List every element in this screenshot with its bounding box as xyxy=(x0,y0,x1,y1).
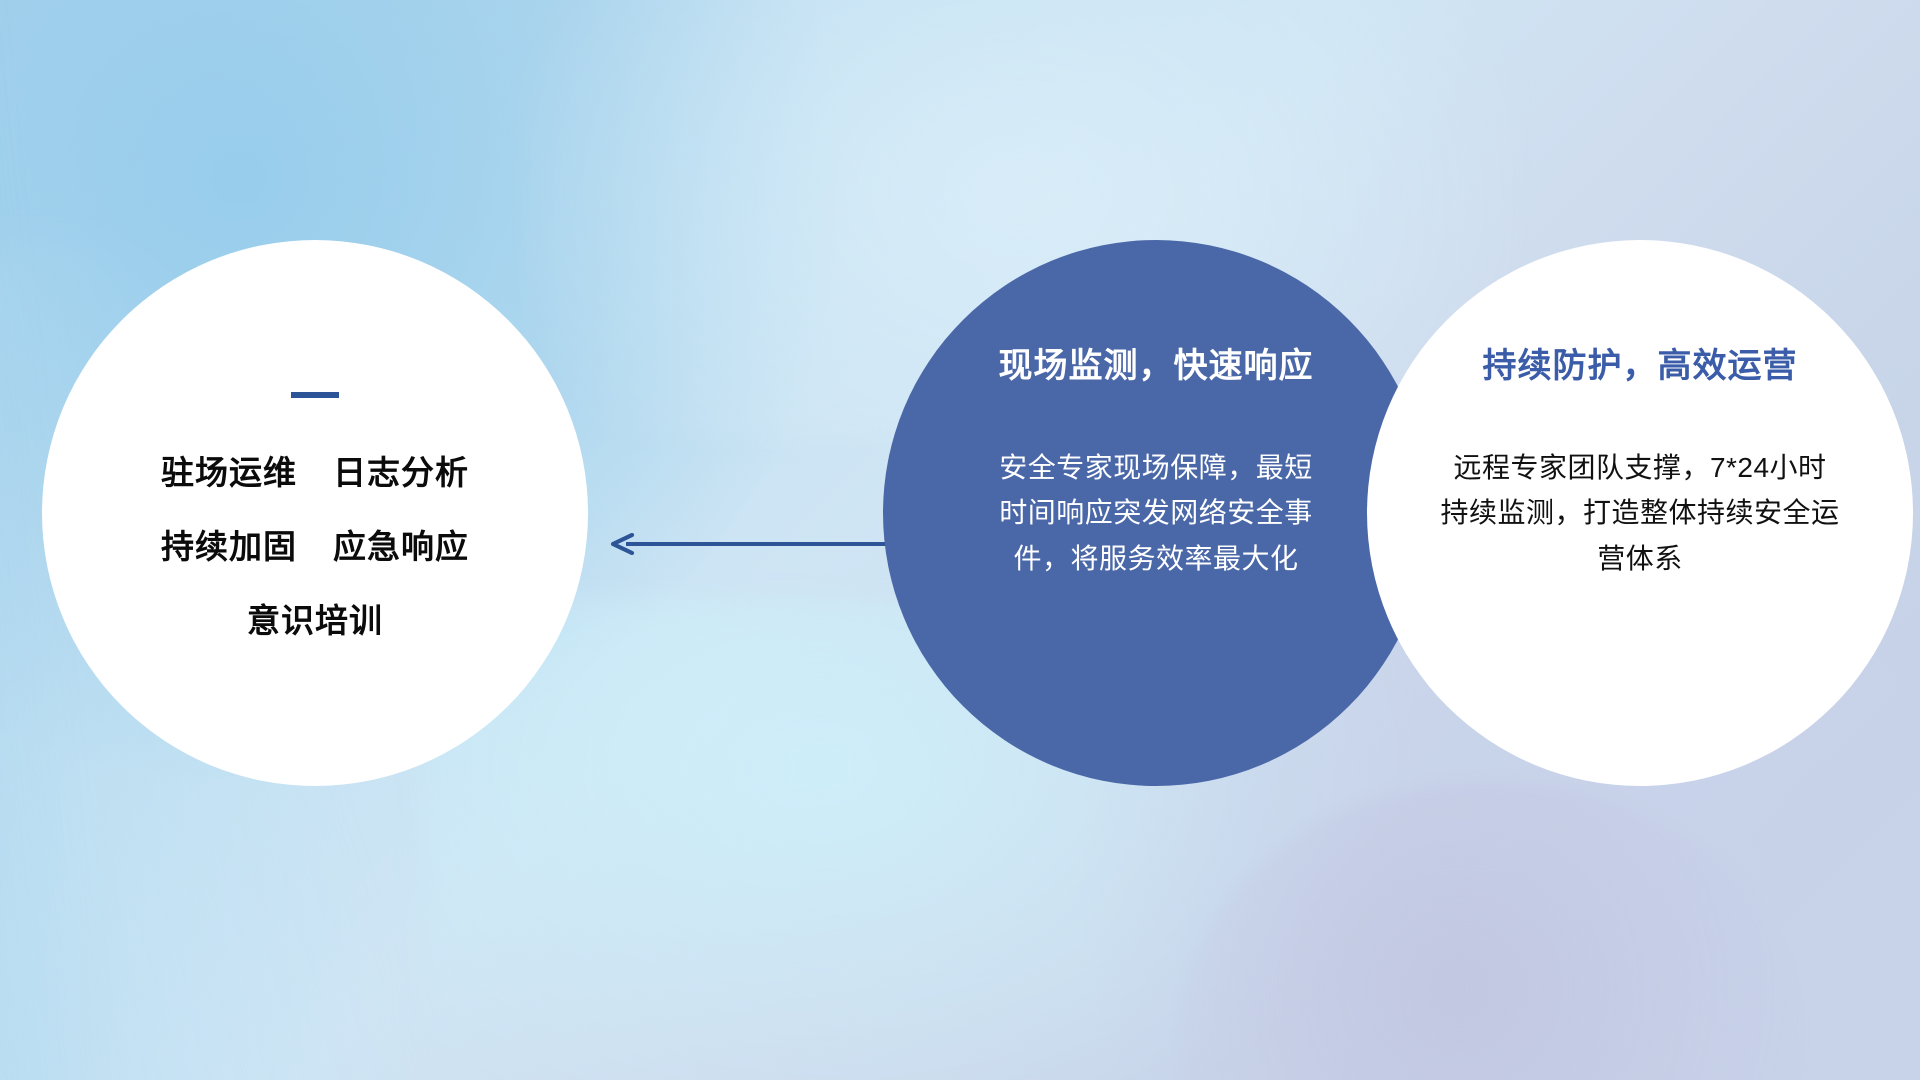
arrow-left-icon xyxy=(610,533,636,555)
arrow-line xyxy=(626,542,900,546)
capability-item: 驻场运维 xyxy=(161,446,297,494)
right-circle-body: 远程专家团队支撑，7*24小时持续监测，打造整体持续安全运营体系 xyxy=(1440,445,1840,581)
capability-circle-left: 驻场运维 日志分析 持续加固 应急响应 意识培训 xyxy=(42,240,588,786)
capability-item: 持续加固 xyxy=(161,520,297,568)
capability-item: 日志分析 xyxy=(333,446,469,494)
slide-canvas: 驻场运维 日志分析 持续加固 应急响应 意识培训 现场监测，快速响应 安全专家现… xyxy=(0,0,1920,1080)
middle-circle-title: 现场监测，快速响应 xyxy=(999,338,1314,387)
connector-arrow xyxy=(610,533,900,555)
capability-circle-right: 持续防护，高效运营 远程专家团队支撑，7*24小时持续监测，打造整体持续安全运营… xyxy=(1367,240,1913,786)
capability-row: 驻场运维 日志分析 xyxy=(161,446,469,494)
capability-list: 驻场运维 日志分析 持续加固 应急响应 意识培训 xyxy=(161,446,469,642)
middle-circle-body: 安全专家现场保障，最短时间响应突发网络安全事件，将服务效率最大化 xyxy=(991,445,1321,581)
capability-row: 持续加固 应急响应 xyxy=(161,520,469,568)
capability-row: 意识培训 xyxy=(247,594,383,642)
horizontal-dash-icon xyxy=(291,392,339,398)
capability-item: 应急响应 xyxy=(333,520,469,568)
capability-item: 意识培训 xyxy=(247,594,383,642)
right-circle-title: 持续防护，高效运营 xyxy=(1483,338,1798,387)
capability-circle-middle: 现场监测，快速响应 安全专家现场保障，最短时间响应突发网络安全事件，将服务效率最… xyxy=(883,240,1429,786)
